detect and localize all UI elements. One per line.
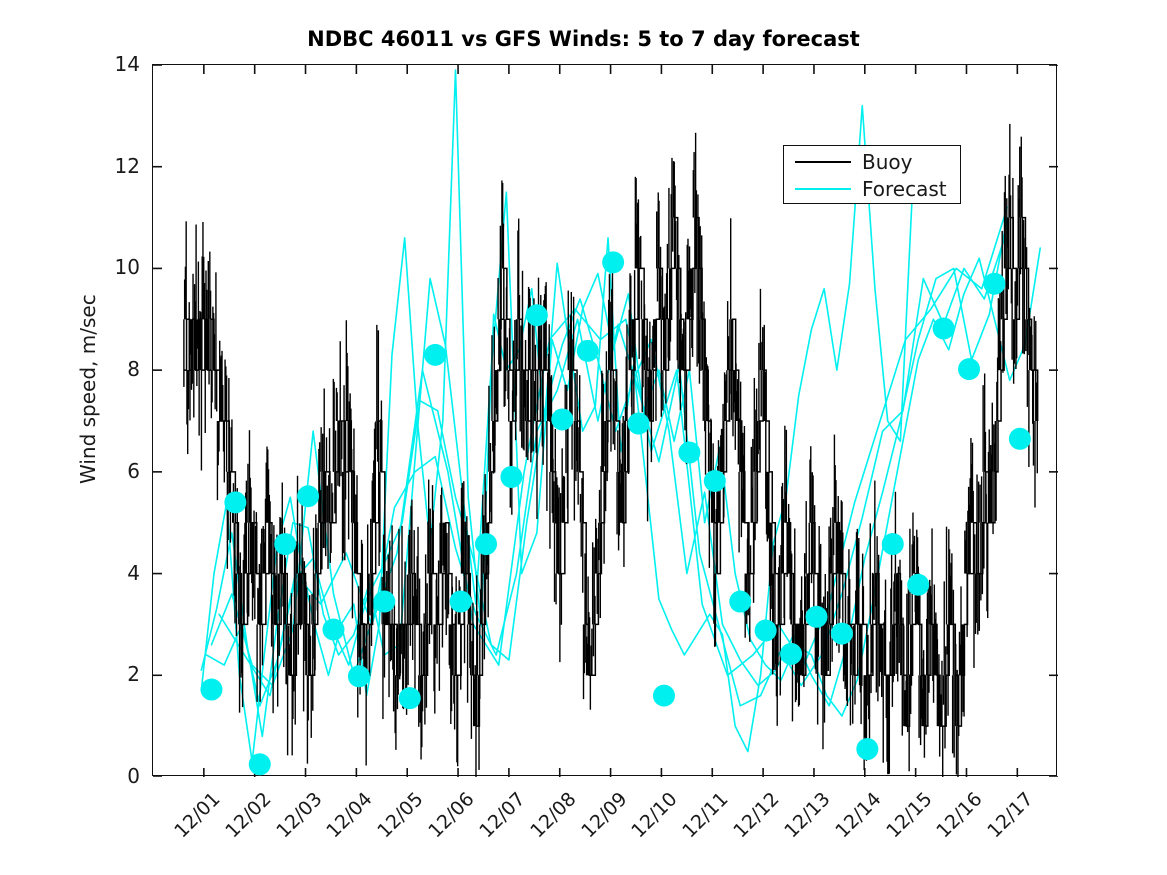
x-tick-label: 12/17 — [976, 788, 1038, 850]
chart-title: NDBC 46011 vs GFS Winds: 5 to 7 day fore… — [0, 27, 1167, 51]
x-tick-label: 12/09 — [569, 788, 631, 850]
legend-swatch-buoy — [795, 161, 851, 163]
plot-area: Buoy Forecast — [152, 64, 1057, 776]
y-tick-label: 14 — [96, 52, 140, 76]
y-tick-label: 0 — [96, 764, 140, 788]
y-tick-label: 4 — [96, 561, 140, 585]
legend-label-buoy: Buoy — [862, 152, 912, 172]
x-tick-label: 12/06 — [416, 788, 478, 850]
x-tick-label: 12/03 — [264, 788, 326, 850]
y-tick-label: 10 — [96, 255, 140, 279]
x-tick-label: 12/11 — [671, 788, 733, 850]
x-tick-label: 12/08 — [518, 788, 580, 850]
x-tick-label: 12/04 — [315, 788, 377, 850]
x-tick-label: 12/16 — [925, 788, 987, 850]
x-tick-label: 12/15 — [874, 788, 936, 850]
legend: Buoy Forecast — [783, 145, 961, 204]
legend-entry-forecast: Forecast — [784, 175, 960, 202]
y-tick-label: 8 — [96, 357, 140, 381]
x-tick-label: 12/13 — [772, 788, 834, 850]
legend-label-forecast: Forecast — [862, 179, 947, 199]
x-tick-label: 12/14 — [823, 788, 885, 850]
chart-page: NDBC 46011 vs GFS Winds: 5 to 7 day fore… — [0, 0, 1167, 875]
x-tick-label: 12/12 — [721, 788, 783, 850]
x-tick-label: 12/07 — [467, 788, 529, 850]
x-tick-label: 12/10 — [620, 788, 682, 850]
y-axis-label: Wind speed, m/sec — [76, 294, 100, 484]
x-tick-label: 12/05 — [366, 788, 428, 850]
legend-swatch-forecast — [795, 188, 851, 190]
y-tick-label: 2 — [96, 662, 140, 686]
x-tick-label: 12/01 — [162, 788, 224, 850]
x-tick-label: 12/02 — [213, 788, 275, 850]
y-tick-label: 12 — [96, 154, 140, 178]
legend-entry-buoy: Buoy — [784, 148, 960, 175]
y-tick-label: 6 — [96, 459, 140, 483]
